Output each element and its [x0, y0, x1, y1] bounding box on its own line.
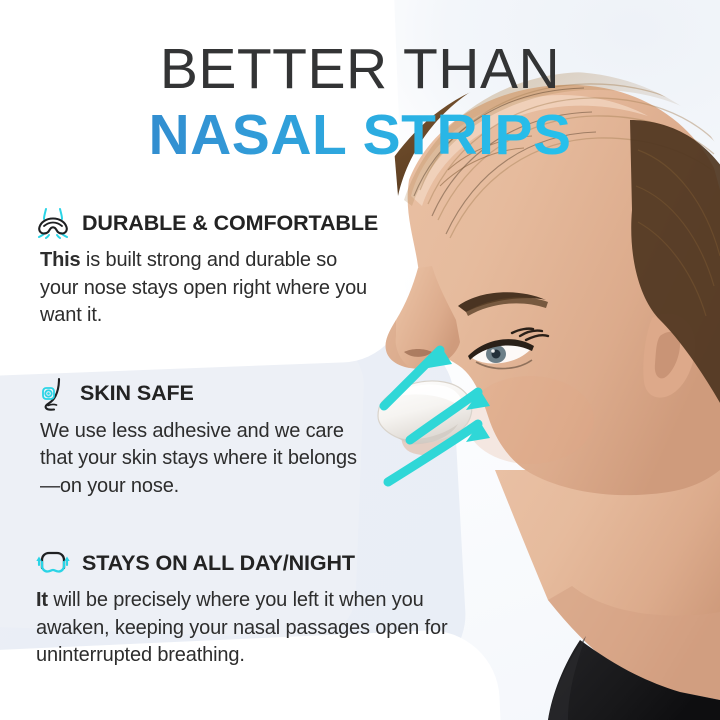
feature-item-stays-on: STAYS ON ALL DAY/NIGHT It will be precis… [0, 546, 470, 670]
feature-body-text: is built strong and durable so your nose… [40, 249, 367, 326]
nasal-strip-arrows-icon [34, 546, 72, 580]
feature-title: SKIN SAFE [80, 381, 194, 406]
feature-body-bold: It [36, 589, 48, 611]
feature-body: This is built strong and durable so your… [34, 247, 370, 330]
feature-heading: DURABLE & COMFORTABLE [34, 206, 470, 240]
feature-body-text: We use less adhesive and we care that yo… [40, 420, 357, 497]
feature-body-text: will be precisely where you left it when… [36, 589, 447, 666]
feature-body-bold: This [40, 249, 81, 271]
feature-body: It will be precisely where you left it w… [34, 587, 456, 670]
feature-heading: STAYS ON ALL DAY/NIGHT [34, 546, 470, 580]
promo-poster: BETTER THAN NASAL STRIPS [0, 0, 720, 720]
feature-list: DURABLE & COMFORTABLE This is built stro… [0, 206, 470, 670]
feature-body: We use less adhesive and we care that yo… [40, 418, 360, 501]
feature-title: DURABLE & COMFORTABLE [82, 211, 378, 236]
nose-front-airflow-icon [34, 206, 72, 240]
feature-item-skin-safe: SKIN SAFE We use less adhesive and we ca… [0, 377, 470, 501]
feature-item-durable-comfortable: DURABLE & COMFORTABLE This is built stro… [0, 206, 470, 330]
feature-title: STAYS ON ALL DAY/NIGHT [82, 551, 355, 576]
nose-profile-skin-safe-icon [40, 377, 70, 411]
feature-heading: SKIN SAFE [40, 377, 470, 411]
